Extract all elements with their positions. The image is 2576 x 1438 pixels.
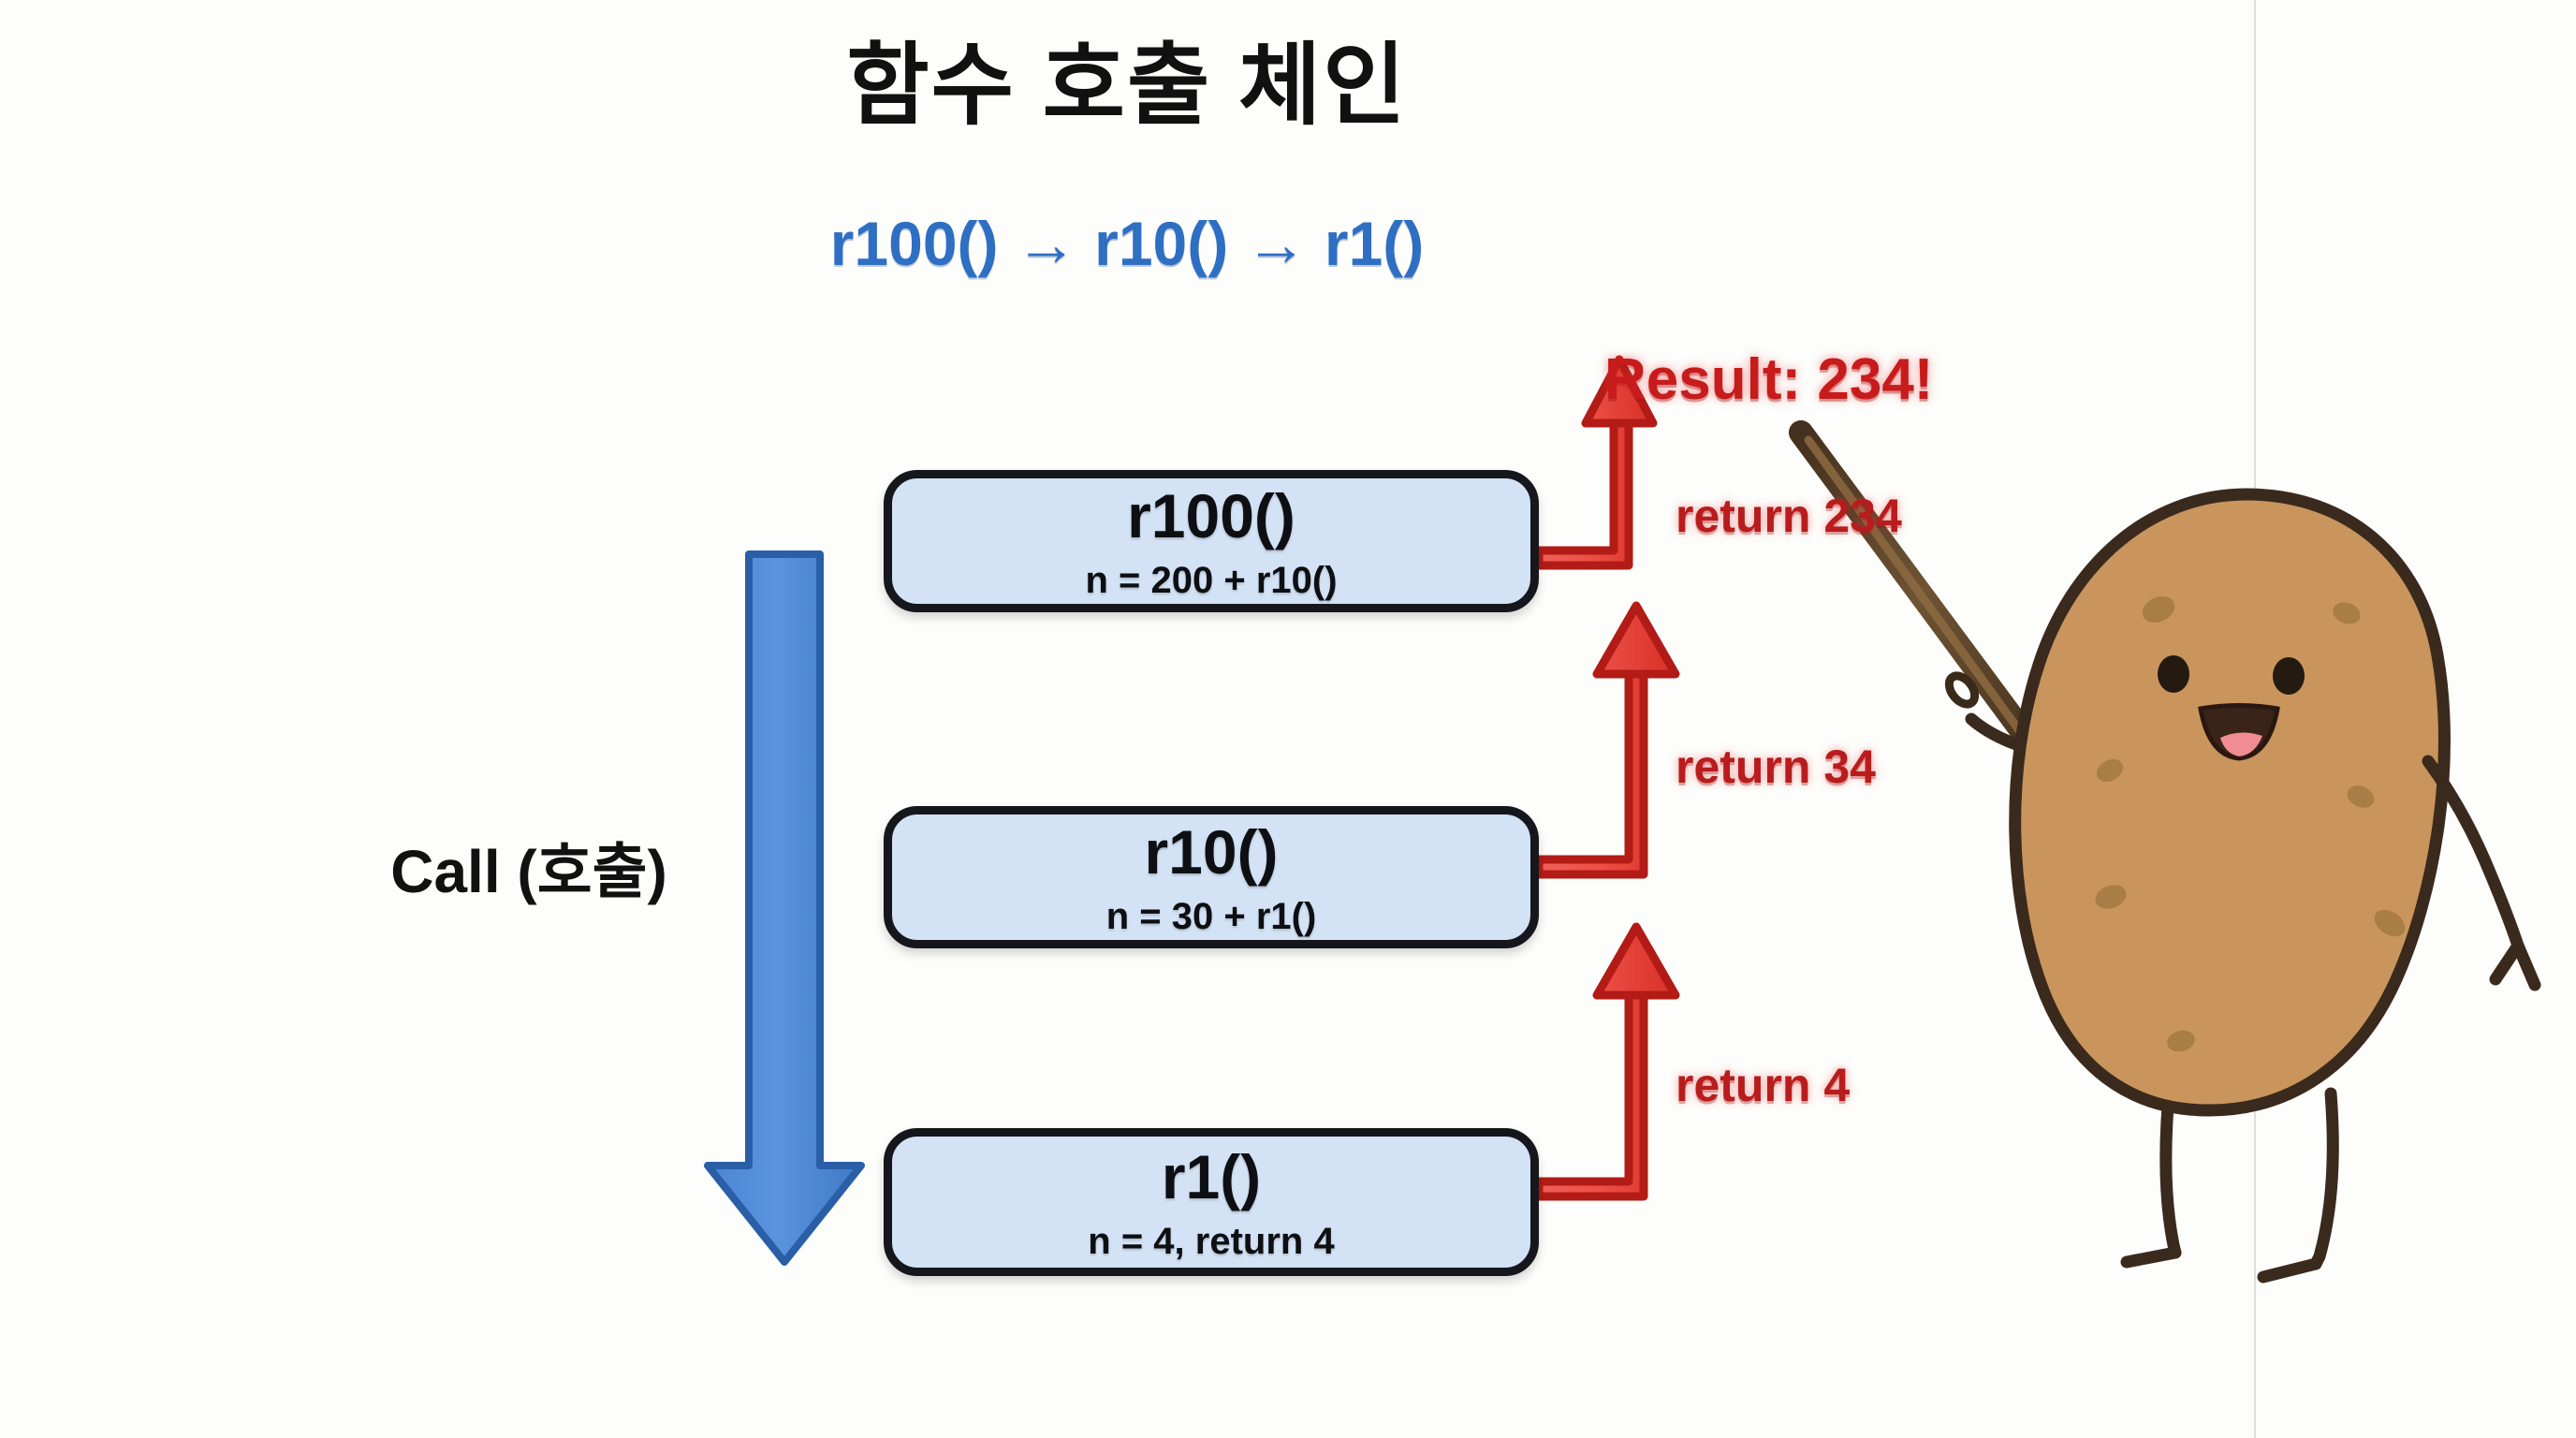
return-arrow-34	[1539, 606, 1676, 874]
page-seam-line	[2254, 0, 2256, 1438]
potato-spots	[2092, 592, 2410, 1055]
potato-right-arm	[2428, 761, 2535, 985]
diagram-canvas: 함수 호출 체인 r100() → r10() → r1() Call (호출)…	[0, 0, 2576, 1438]
frame-box-r1[interactable]: r1() n = 4, return 4	[884, 1128, 1539, 1276]
page-title: 함수 호출 체인	[0, 39, 2254, 134]
return-label-34: return 34	[1676, 740, 1876, 794]
call-direction-label: Call (호출)	[309, 824, 749, 910]
result-label: Result: 234!	[1604, 346, 1933, 413]
frame-name: r1()	[1162, 1146, 1261, 1208]
potato-left-arm	[1971, 719, 2080, 758]
return-label-4: return 4	[1676, 1058, 1850, 1112]
potato-mouth	[2201, 706, 2277, 759]
return-label-234: return 234	[1676, 489, 1902, 543]
frame-name: r100()	[1127, 485, 1295, 547]
frame-box-r100[interactable]: r100() n = 200 + r10()	[884, 470, 1539, 612]
frame-name: r10()	[1144, 821, 1278, 883]
potato-face	[2158, 655, 2305, 758]
potato-mascot	[1801, 433, 2535, 1277]
return-arrow-4	[1539, 927, 1676, 1196]
frame-detail: n = 200 + r10()	[1085, 562, 1337, 599]
frame-detail: n = 30 + r1()	[1106, 898, 1317, 935]
page-subtitle: r100() → r10() → r1()	[0, 208, 2254, 279]
potato-right-eye	[2273, 657, 2305, 695]
frame-detail: n = 4, return 4	[1088, 1223, 1334, 1260]
potato-legs	[2127, 1084, 2333, 1277]
frame-box-r10[interactable]: r10() n = 30 + r1()	[884, 806, 1539, 948]
potato-tongue	[2220, 732, 2262, 756]
potato-left-eye	[2158, 655, 2189, 693]
potato-body	[2015, 494, 2445, 1110]
